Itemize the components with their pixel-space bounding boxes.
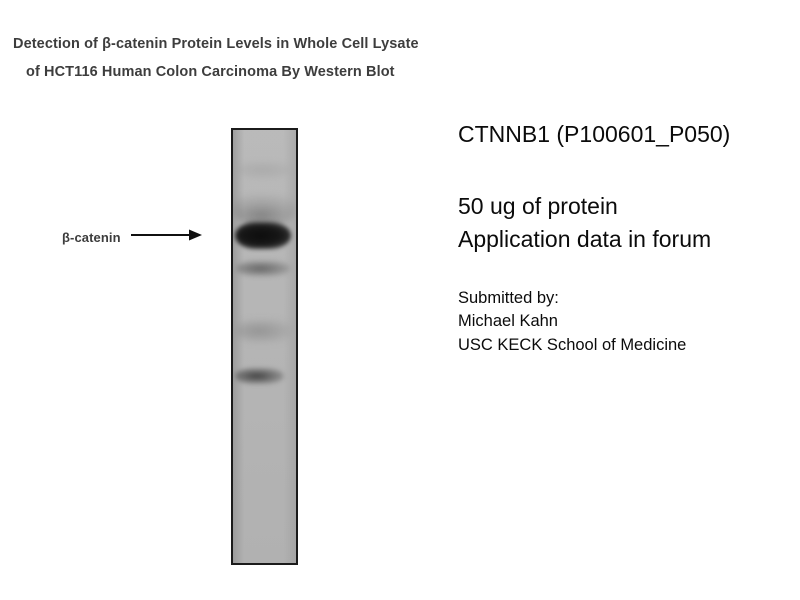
submitter-institution: USC KECK School of Medicine — [458, 334, 798, 357]
figure-title-line-2: of HCT116 Human Colon Carcinoma By Weste… — [13, 58, 419, 86]
description-panel: CTNNB1 (P100601_P050) 50 ug of protein A… — [458, 122, 798, 357]
assay-details: 50 ug of protein Application data in for… — [458, 190, 798, 257]
arrow-right-icon — [131, 228, 203, 247]
western-blot-figure: Detection of β-catenin Protein Levels in… — [0, 0, 800, 600]
blot-membrane — [233, 130, 296, 563]
western-blot-lane — [231, 128, 298, 565]
smear-above-main-band — [233, 192, 296, 226]
submitter-block: Submitted by: Michael Kahn USC KECK Scho… — [458, 287, 798, 357]
beta-catenin-main-band — [235, 222, 291, 249]
figure-title: Detection of β-catenin Protein Levels in… — [13, 30, 419, 87]
faint-mid-band — [235, 320, 292, 342]
target-heading: CTNNB1 (P100601_P050) — [458, 122, 798, 146]
submitted-by-label: Submitted by: — [458, 287, 798, 310]
lower-band — [235, 368, 284, 384]
faint-wisp-band — [237, 162, 290, 178]
secondary-band — [236, 261, 290, 276]
figure-title-line-1: Detection of β-catenin Protein Levels in… — [13, 30, 419, 58]
application-data-line: Application data in forum — [458, 223, 798, 256]
beta-catenin-label: β-catenin — [62, 230, 121, 245]
beta-catenin-annotation: β-catenin — [62, 228, 203, 246]
protein-amount-line: 50 ug of protein — [458, 190, 798, 223]
submitter-name: Michael Kahn — [458, 310, 798, 333]
